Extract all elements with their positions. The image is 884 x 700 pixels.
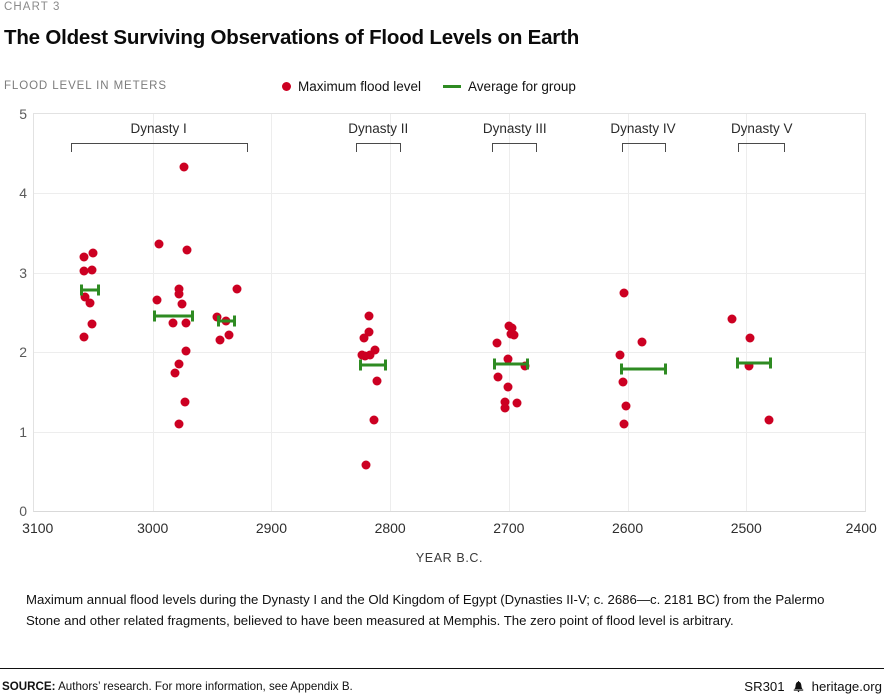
data-point bbox=[171, 368, 180, 377]
legend-label: Maximum flood level bbox=[298, 79, 421, 94]
data-point bbox=[501, 403, 510, 412]
gridline-vertical bbox=[271, 114, 272, 511]
data-point bbox=[178, 299, 187, 308]
chart-legend: Maximum flood levelAverage for group bbox=[282, 79, 576, 94]
average-marker-dynasty-i-a bbox=[80, 289, 100, 292]
y-axis-tick-label: 3 bbox=[19, 265, 27, 281]
average-marker-dynasty-i-c bbox=[217, 320, 236, 323]
data-point bbox=[89, 248, 98, 257]
gridline-horizontal bbox=[34, 193, 865, 194]
data-point bbox=[181, 346, 190, 355]
x-axis-tick-label: 2900 bbox=[256, 520, 287, 536]
data-point bbox=[88, 266, 97, 275]
data-point bbox=[513, 399, 522, 408]
data-point bbox=[360, 333, 369, 342]
y-axis-title: FLOOD LEVEL IN METERS bbox=[4, 80, 167, 92]
data-point bbox=[174, 420, 183, 429]
average-marker-dynasty-v-a bbox=[736, 362, 773, 365]
data-point bbox=[216, 336, 225, 345]
y-axis-tick-label: 5 bbox=[19, 106, 27, 122]
y-axis-tick-label: 4 bbox=[19, 185, 27, 201]
x-axis-title: YEAR B.C. bbox=[33, 551, 866, 565]
data-point bbox=[637, 337, 646, 346]
group-bracket-dynasty-v bbox=[738, 143, 785, 152]
x-axis-tick-label: 3100 bbox=[22, 520, 53, 536]
data-point bbox=[168, 318, 177, 327]
data-point bbox=[88, 319, 97, 328]
legend-label: Average for group bbox=[468, 79, 576, 94]
page-title: The Oldest Surviving Observations of Flo… bbox=[4, 26, 579, 50]
source-label: SOURCE: bbox=[2, 680, 55, 693]
data-point bbox=[764, 416, 773, 425]
y-axis-tick-label: 0 bbox=[19, 503, 27, 519]
legend-item-2: Average for group bbox=[443, 79, 576, 94]
data-point bbox=[179, 163, 188, 172]
gridline-horizontal bbox=[34, 352, 865, 353]
gridline-horizontal bbox=[34, 273, 865, 274]
gridline-vertical bbox=[628, 114, 629, 511]
data-point bbox=[174, 290, 183, 299]
data-point bbox=[181, 318, 190, 327]
data-point bbox=[373, 376, 382, 385]
data-point bbox=[174, 360, 183, 369]
data-point bbox=[153, 295, 162, 304]
data-point bbox=[364, 312, 373, 321]
source-divider bbox=[0, 668, 884, 669]
chart-note: Maximum annual flood levels during the D… bbox=[26, 590, 850, 631]
data-point bbox=[620, 288, 629, 297]
group-label-dynasty-v: Dynasty V bbox=[731, 121, 793, 136]
chart-kicker: CHART 3 bbox=[4, 1, 61, 13]
report-id: SR301 bbox=[744, 679, 784, 694]
x-axis-tick-label: 2400 bbox=[846, 520, 877, 536]
group-label-dynasty-i: Dynasty I bbox=[131, 121, 187, 136]
x-axis-tick-label: 2500 bbox=[731, 520, 762, 536]
data-point bbox=[492, 338, 501, 347]
x-axis-tick-label: 3000 bbox=[137, 520, 168, 536]
average-marker-dynasty-iii-a bbox=[493, 363, 529, 366]
data-point bbox=[154, 240, 163, 249]
gridline-vertical bbox=[390, 114, 391, 511]
y-axis-tick-label: 2 bbox=[19, 344, 27, 360]
x-axis-tick-label: 2600 bbox=[612, 520, 643, 536]
data-point bbox=[362, 460, 371, 469]
group-bracket-dynasty-iv bbox=[622, 143, 666, 152]
data-point bbox=[616, 350, 625, 359]
data-point bbox=[620, 419, 629, 428]
data-point bbox=[233, 285, 242, 294]
group-bracket-dynasty-i bbox=[71, 143, 248, 152]
y-axis-tick-label: 1 bbox=[19, 424, 27, 440]
group-label-dynasty-iii: Dynasty III bbox=[483, 121, 547, 136]
legend-item-1: Maximum flood level bbox=[282, 79, 421, 94]
data-point bbox=[618, 378, 627, 387]
gridline-vertical bbox=[746, 114, 747, 511]
source-detail: Authors’ research. For more information,… bbox=[58, 680, 353, 693]
data-point bbox=[728, 314, 737, 323]
average-marker-dynasty-iv-a bbox=[620, 367, 666, 370]
data-point bbox=[745, 333, 754, 342]
data-point bbox=[79, 252, 88, 261]
group-label-dynasty-ii: Dynasty II bbox=[348, 121, 408, 136]
legend-line-icon bbox=[443, 85, 461, 88]
data-point bbox=[180, 398, 189, 407]
data-point bbox=[85, 298, 94, 307]
gridline-vertical bbox=[509, 114, 510, 511]
data-point bbox=[224, 330, 233, 339]
data-point bbox=[365, 350, 374, 359]
group-bracket-dynasty-ii bbox=[356, 143, 401, 152]
chart-page: CHART 3 The Oldest Surviving Observation… bbox=[0, 0, 884, 700]
group-label-dynasty-iv: Dynasty IV bbox=[610, 121, 675, 136]
average-marker-dynasty-ii-a bbox=[359, 363, 386, 366]
source-text: SOURCE: Authors’ research. For more info… bbox=[2, 680, 353, 693]
data-point bbox=[494, 372, 503, 381]
average-marker-dynasty-i-b bbox=[153, 315, 195, 318]
gridline-horizontal bbox=[34, 432, 865, 433]
legend-dot-icon bbox=[282, 82, 291, 91]
data-point bbox=[369, 416, 378, 425]
source-attribution: SR301 heritage.org bbox=[744, 679, 882, 694]
x-axis-tick-label: 2700 bbox=[493, 520, 524, 536]
site-url: heritage.org bbox=[812, 679, 882, 694]
plot-area: 01234531003000290028002700260025002400Dy… bbox=[33, 113, 866, 512]
x-axis-tick-label: 2800 bbox=[375, 520, 406, 536]
data-point bbox=[79, 333, 88, 342]
group-bracket-dynasty-iii bbox=[492, 143, 537, 152]
source-row: SOURCE: Authors’ research. For more info… bbox=[0, 674, 884, 698]
liberty-bell-icon bbox=[792, 680, 805, 693]
data-point bbox=[622, 402, 631, 411]
data-point bbox=[183, 245, 192, 254]
data-point bbox=[503, 383, 512, 392]
data-point bbox=[509, 330, 518, 339]
